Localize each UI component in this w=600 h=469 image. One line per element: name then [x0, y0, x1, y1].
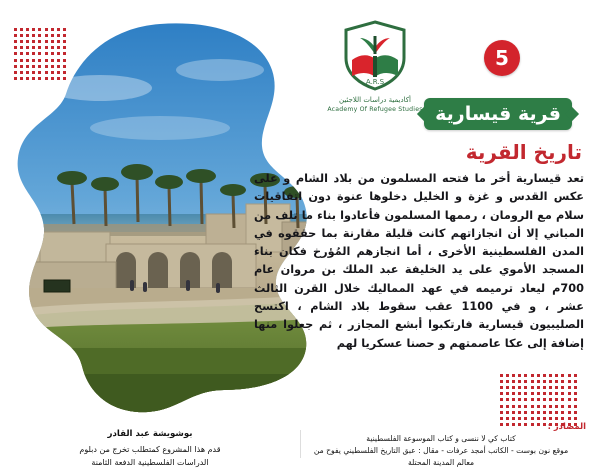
decorative-dot: [549, 398, 552, 401]
page-number-badge: 5: [484, 40, 520, 76]
author-note-line-2: الدراسات الفلسطينية الدفعة الثامنة: [16, 457, 284, 469]
decorative-dot: [531, 405, 534, 408]
decorative-dot: [518, 374, 521, 377]
decorative-dot: [512, 374, 515, 377]
decorative-dot: [506, 380, 509, 383]
decorative-dot: [549, 380, 552, 383]
decorative-dot: [561, 405, 564, 408]
decorative-dot: [568, 411, 571, 414]
decorative-dot: [574, 386, 577, 389]
decorative-dot: [543, 380, 546, 383]
decorative-dot: [518, 405, 521, 408]
decorative-dot: [561, 380, 564, 383]
decorative-dot: [531, 392, 534, 395]
decorative-dot: [500, 405, 503, 408]
decorative-dot: [512, 405, 515, 408]
decorative-dot: [574, 380, 577, 383]
decorative-dot: [500, 380, 503, 383]
decorative-dot: [537, 411, 540, 414]
decorative-dot: [518, 411, 521, 414]
decorative-dot: [549, 392, 552, 395]
decorative-dot: [512, 411, 515, 414]
decorative-dot: [524, 386, 527, 389]
decorative-dot: [568, 380, 571, 383]
decorative-dot: [537, 392, 540, 395]
poster-page: A.R.S أكاديمية دراسات اللاجئين Academy O…: [0, 0, 600, 468]
decorative-dot: [543, 405, 546, 408]
decorative-dot: [518, 392, 521, 395]
decorative-dot: [537, 405, 540, 408]
decorative-dot: [537, 386, 540, 389]
decorative-dot: [524, 405, 527, 408]
decorative-dot: [568, 405, 571, 408]
decorative-dot: [574, 374, 577, 377]
village-name-label: قرية قيسارية: [435, 103, 561, 125]
section-title: تاريخ القرية: [322, 140, 582, 164]
decorative-dot: [500, 374, 503, 377]
decorative-dot: [524, 411, 527, 414]
footer-divider: [300, 430, 301, 458]
decorative-dot: [555, 405, 558, 408]
sources-header: المصادر :: [296, 420, 586, 433]
decorative-dot: [574, 398, 577, 401]
sources-block: المصادر : كتاب كي لا ننسى و كتاب الموسوع…: [296, 420, 586, 468]
logo-arabic-name: أكاديمية دراسات اللاجئين: [316, 96, 434, 104]
decorative-dot: [537, 398, 540, 401]
decorative-dot: [506, 411, 509, 414]
decorative-dot: [524, 374, 527, 377]
decorative-dot: [555, 392, 558, 395]
decorative-dot: [500, 411, 503, 414]
decorative-dot: [561, 374, 564, 377]
decorative-dot: [524, 380, 527, 383]
history-paragraph: تعد قيسارية أخر ما فتحه المسلمون من بلاد…: [254, 170, 584, 353]
decorative-dot: [561, 392, 564, 395]
decorative-dot: [549, 386, 552, 389]
decorative-dot: [561, 386, 564, 389]
decorative-dot: [574, 405, 577, 408]
logo-acronym: A.R.S: [366, 78, 385, 86]
decorative-dot: [537, 380, 540, 383]
decorative-dot: [524, 398, 527, 401]
decorative-dot: [543, 392, 546, 395]
decorative-dot: [561, 411, 564, 414]
author-note-line-1: قدم هذا المشروع كمتطلب تخرج من دبلوم: [16, 444, 284, 457]
ribbon-corner-right: [565, 107, 579, 121]
decorative-dot: [531, 380, 534, 383]
decorative-dot: [568, 392, 571, 395]
decorative-dot: [512, 398, 515, 401]
decorative-dot: [543, 411, 546, 414]
decorative-dot: [531, 374, 534, 377]
decorative-dot: [574, 392, 577, 395]
decorative-dot: [549, 405, 552, 408]
village-name-banner: قرية قيسارية: [424, 98, 572, 130]
decorative-dot: [512, 380, 515, 383]
decorative-dot: [555, 386, 558, 389]
decorative-dot: [543, 374, 546, 377]
source-line-2: موقع نون بوست - الكاتب أمجد عرفات - مقال…: [296, 445, 586, 457]
decorative-dot: [524, 392, 527, 395]
decorative-dot: [518, 380, 521, 383]
decorative-dot: [531, 411, 534, 414]
decorative-dot: [568, 398, 571, 401]
decorative-dot: [543, 386, 546, 389]
decorative-dot: [500, 386, 503, 389]
decorative-dot: [506, 405, 509, 408]
decorative-dot: [500, 398, 503, 401]
village-history-text: تعد قيسارية أخر ما فتحه المسلمون من بلاد…: [254, 170, 584, 353]
decorative-dot: [568, 386, 571, 389]
decorative-dot: [537, 374, 540, 377]
decorative-dot: [506, 398, 509, 401]
decorative-dot: [512, 392, 515, 395]
author-name: بوشويشة عبد القادر: [16, 428, 284, 442]
decorative-dot: [549, 374, 552, 377]
source-line-1: كتاب كي لا ننسى و كتاب الموسوعة الفلسطين…: [296, 433, 586, 445]
decorative-dot: [568, 374, 571, 377]
decorative-dot: [561, 398, 564, 401]
decorative-dot: [555, 398, 558, 401]
academy-logo: A.R.S أكاديمية دراسات اللاجئين Academy O…: [316, 18, 434, 124]
decorative-dot: [500, 392, 503, 395]
decorative-dot: [531, 398, 534, 401]
decorative-dot: [512, 386, 515, 389]
author-block: بوشويشة عبد القادر قدم هذا المشروع كمتطل…: [16, 428, 284, 469]
decorative-dot: [574, 411, 577, 414]
decorative-dot: [555, 374, 558, 377]
decorative-dot: [506, 386, 509, 389]
source-line-3: معالم المدينة المحتلة: [296, 457, 586, 469]
decorative-dot: [555, 411, 558, 414]
decorative-dot: [518, 398, 521, 401]
decorative-dot: [549, 411, 552, 414]
decorative-dot: [506, 392, 509, 395]
decorative-dot: [518, 386, 521, 389]
logo-english-name: Academy Of Refugee Studies: [316, 106, 434, 113]
decorative-dot: [555, 380, 558, 383]
decorative-dot: [531, 386, 534, 389]
decorative-dot: [543, 398, 546, 401]
decorative-dot: [506, 374, 509, 377]
